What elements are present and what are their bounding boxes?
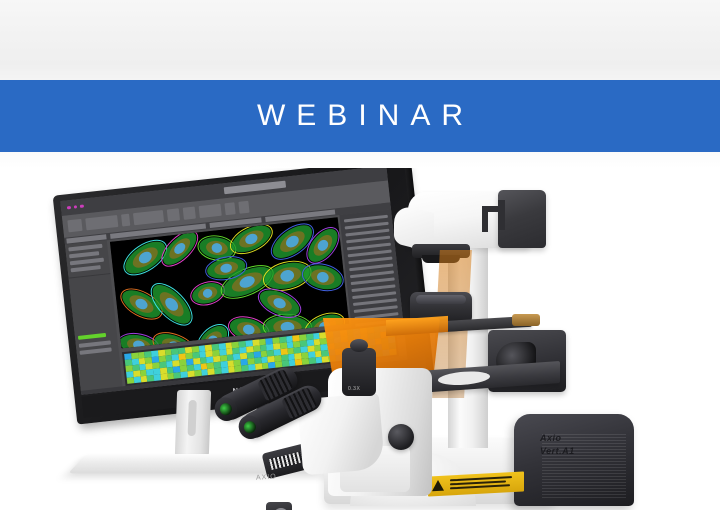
product-photo: NZXT AxioVert.A1 (0, 168, 720, 510)
rib (542, 491, 626, 492)
rib (542, 476, 626, 477)
webinar-banner: WEBINAR (0, 80, 720, 152)
inverted-microscope: AxioVert.A1 (300, 168, 700, 510)
toolbar-button-1[interactable] (67, 219, 82, 232)
rib (542, 485, 626, 486)
binocular-eyepieces: 0.3X (226, 344, 426, 494)
close-icon[interactable] (67, 205, 71, 209)
rib (542, 479, 626, 480)
toolbar-button-7[interactable] (199, 204, 222, 218)
banner-shadow-band (0, 152, 720, 168)
microscope-brand-logo: AxioVert.A1 (540, 432, 602, 458)
top-light-band (0, 0, 720, 80)
toolbar-button-8[interactable] (224, 202, 235, 215)
window-controls[interactable] (67, 204, 84, 209)
stage-aperture (438, 370, 490, 387)
maximize-icon[interactable] (80, 204, 84, 208)
rib (542, 473, 626, 474)
toolbar-button-4[interactable] (133, 210, 164, 225)
left-panel-row-2[interactable] (69, 251, 99, 258)
rear-illumination-module: AxioVert.A1 (514, 414, 634, 506)
rib (542, 494, 626, 495)
left-panel-row-4[interactable] (71, 265, 101, 272)
rib (542, 467, 626, 468)
webinar-slide: WEBINAR (0, 0, 720, 510)
brass-adjuster[interactable] (512, 314, 540, 326)
toolbar-button-2[interactable] (85, 215, 118, 230)
rib (542, 470, 626, 471)
warning-triangle-icon (432, 480, 444, 492)
monitor-stand-neck (175, 390, 211, 456)
toolbar-button-3[interactable] (121, 214, 130, 227)
rib (542, 497, 626, 498)
toolbar-button-6[interactable] (183, 207, 196, 220)
toolbar-button-9[interactable] (238, 201, 249, 214)
banner-title: WEBINAR (246, 101, 474, 131)
left-panel-row-6[interactable] (80, 347, 112, 354)
side-camera-module (266, 502, 292, 510)
left-panel-active-row[interactable] (78, 333, 106, 340)
left-panel-row-5[interactable] (79, 340, 111, 347)
minimize-icon[interactable] (73, 205, 77, 209)
lamp-bracket-icon (478, 196, 512, 236)
rib (542, 461, 626, 462)
camera-port: 0.3X (342, 348, 376, 396)
toolbar-button-5[interactable] (167, 208, 180, 221)
rib (542, 482, 626, 483)
rib (542, 458, 626, 459)
camera-port-label: 0.3X (348, 386, 360, 392)
rib (542, 488, 626, 489)
left-panel-divider (69, 273, 111, 279)
rib (542, 464, 626, 465)
